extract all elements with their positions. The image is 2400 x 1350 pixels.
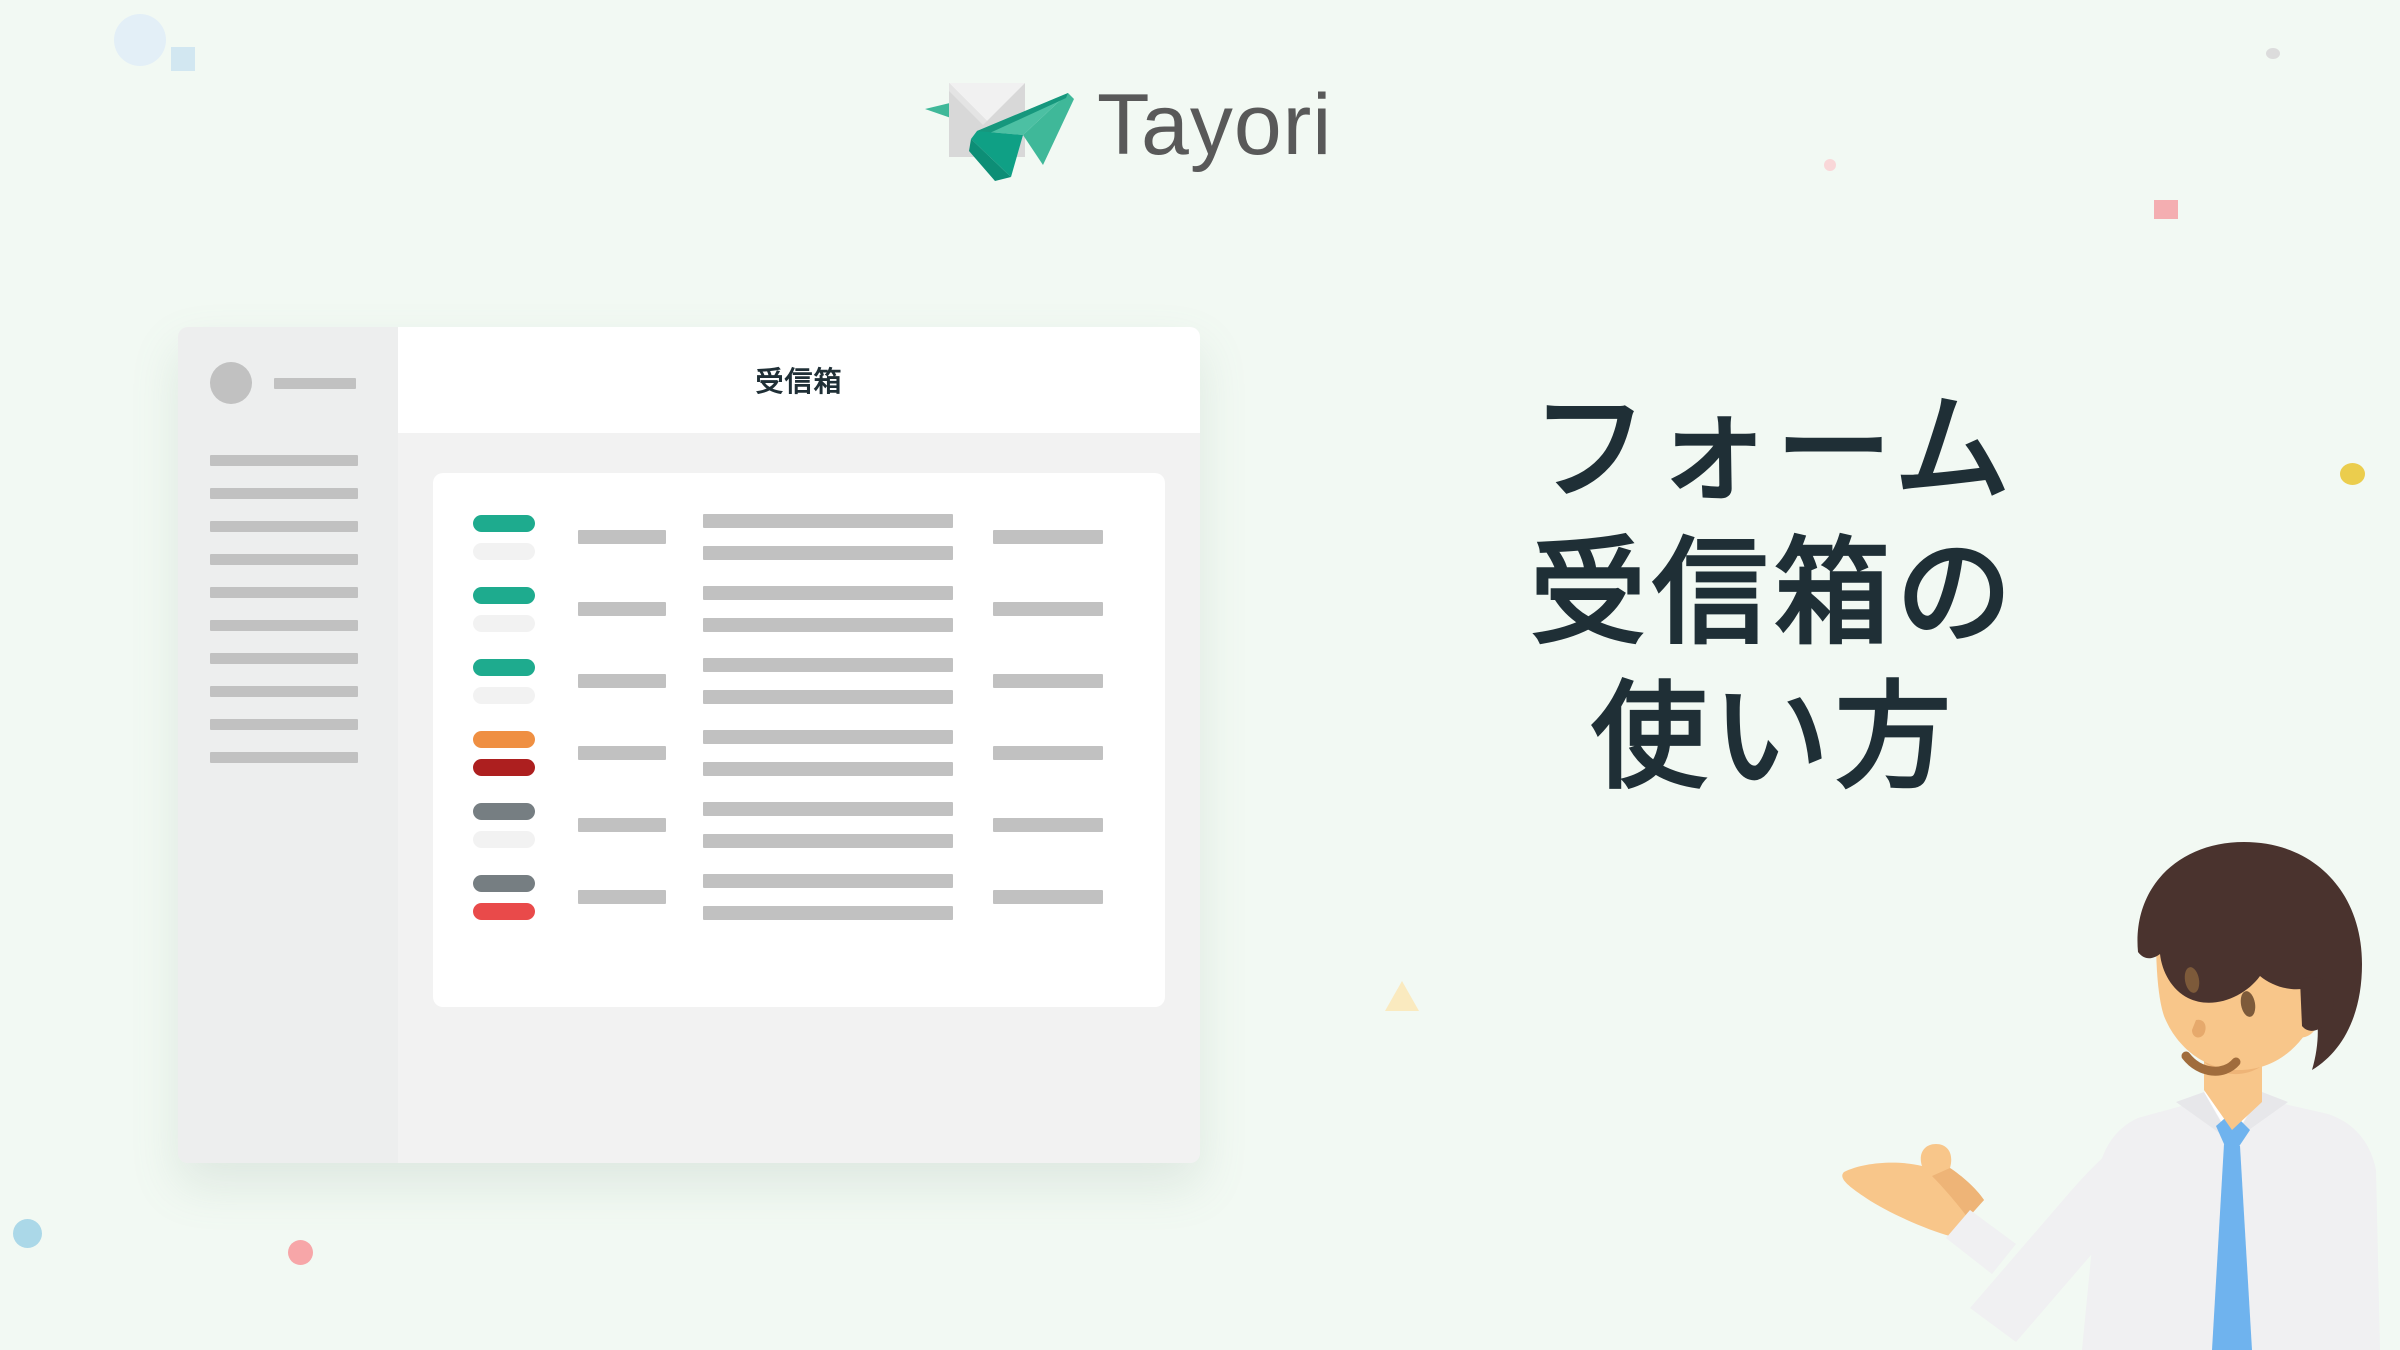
headline-line-3: 使い方	[1444, 666, 2104, 810]
table-row[interactable]	[433, 501, 1165, 573]
deco-triangle-cream	[1385, 981, 1419, 1011]
deco-circle-pink-bottom	[288, 1240, 313, 1265]
sidebar-item-5[interactable]	[210, 587, 358, 598]
row-meta	[993, 890, 1163, 904]
row-tags	[473, 659, 578, 704]
row-sender	[578, 602, 703, 616]
row-body	[703, 802, 993, 848]
sidebar-user-label-skeleton	[274, 378, 356, 389]
main-pane: 受信箱	[398, 327, 1200, 1163]
deco-circle-yellow-right	[2340, 463, 2365, 485]
status-badge-secondary	[473, 831, 535, 848]
status-badge-secondary	[473, 615, 535, 632]
status-badge-secondary	[473, 543, 535, 560]
main-body	[398, 433, 1200, 1163]
row-tags	[473, 803, 578, 848]
sidebar-item-3[interactable]	[210, 521, 358, 532]
status-badge-secondary	[473, 759, 535, 776]
main-header: 受信箱	[398, 327, 1200, 433]
headline-line-2: 受信箱の	[1444, 522, 2104, 666]
row-tags	[473, 731, 578, 776]
status-badge-primary	[473, 515, 535, 532]
deco-dot-gray-right	[2266, 48, 2280, 59]
status-badge-secondary	[473, 687, 535, 704]
table-row[interactable]	[433, 573, 1165, 645]
deco-square-pink-right	[2154, 200, 2178, 219]
sidebar-item-8[interactable]	[210, 686, 358, 697]
row-meta	[993, 530, 1163, 544]
sidebar-item-7[interactable]	[210, 653, 358, 664]
row-sender	[578, 890, 703, 904]
headline: フォーム 受信箱の 使い方	[1444, 378, 2104, 809]
row-tags	[473, 587, 578, 632]
status-badge-primary	[473, 659, 535, 676]
table-row[interactable]	[433, 861, 1165, 933]
deco-circle-blue-bottom	[13, 1219, 42, 1248]
row-sender	[578, 818, 703, 832]
row-body	[703, 514, 993, 560]
page-title: 受信箱	[755, 360, 842, 400]
table-row[interactable]	[433, 645, 1165, 717]
envelope-paperplane-icon	[925, 65, 1075, 185]
row-sender	[578, 674, 703, 688]
row-meta	[993, 674, 1163, 688]
row-tags	[473, 515, 578, 560]
table-row[interactable]	[433, 789, 1165, 861]
poster-canvas: Tayori 受信箱	[0, 0, 2400, 1350]
sidebar-item-1[interactable]	[210, 455, 358, 466]
presenter-man-illustration	[1820, 840, 2400, 1350]
inbox-table-card	[433, 473, 1165, 1007]
status-badge-primary	[473, 803, 535, 820]
sidebar-item-9[interactable]	[210, 719, 358, 730]
row-sender	[578, 530, 703, 544]
sidebar-item-2[interactable]	[210, 488, 358, 499]
app-window-mock: 受信箱	[178, 327, 1200, 1163]
row-tags	[473, 875, 578, 920]
sidebar-item-4[interactable]	[210, 554, 358, 565]
headline-line-1: フォーム	[1444, 378, 2104, 522]
table-row[interactable]	[433, 717, 1165, 789]
deco-dot-pink-left	[1824, 159, 1836, 171]
status-badge-primary	[473, 875, 535, 892]
status-badge-primary	[473, 587, 535, 604]
sidebar-user-row[interactable]	[210, 362, 356, 404]
user-avatar-icon	[210, 362, 252, 404]
row-body	[703, 730, 993, 776]
sidebar	[178, 327, 398, 1163]
row-meta	[993, 746, 1163, 760]
sidebar-item-10[interactable]	[210, 752, 358, 763]
sidebar-nav-list	[210, 455, 358, 763]
row-body	[703, 586, 993, 632]
deco-circle-blue-top	[114, 14, 166, 66]
brand-logo: Tayori	[925, 65, 1332, 185]
row-meta	[993, 602, 1163, 616]
status-badge-primary	[473, 731, 535, 748]
deco-square-blue-top	[171, 47, 195, 71]
sidebar-item-6[interactable]	[210, 620, 358, 631]
brand-name: Tayori	[1097, 82, 1332, 168]
row-meta	[993, 818, 1163, 832]
row-body	[703, 658, 993, 704]
row-body	[703, 874, 993, 920]
status-badge-secondary	[473, 903, 535, 920]
row-sender	[578, 746, 703, 760]
